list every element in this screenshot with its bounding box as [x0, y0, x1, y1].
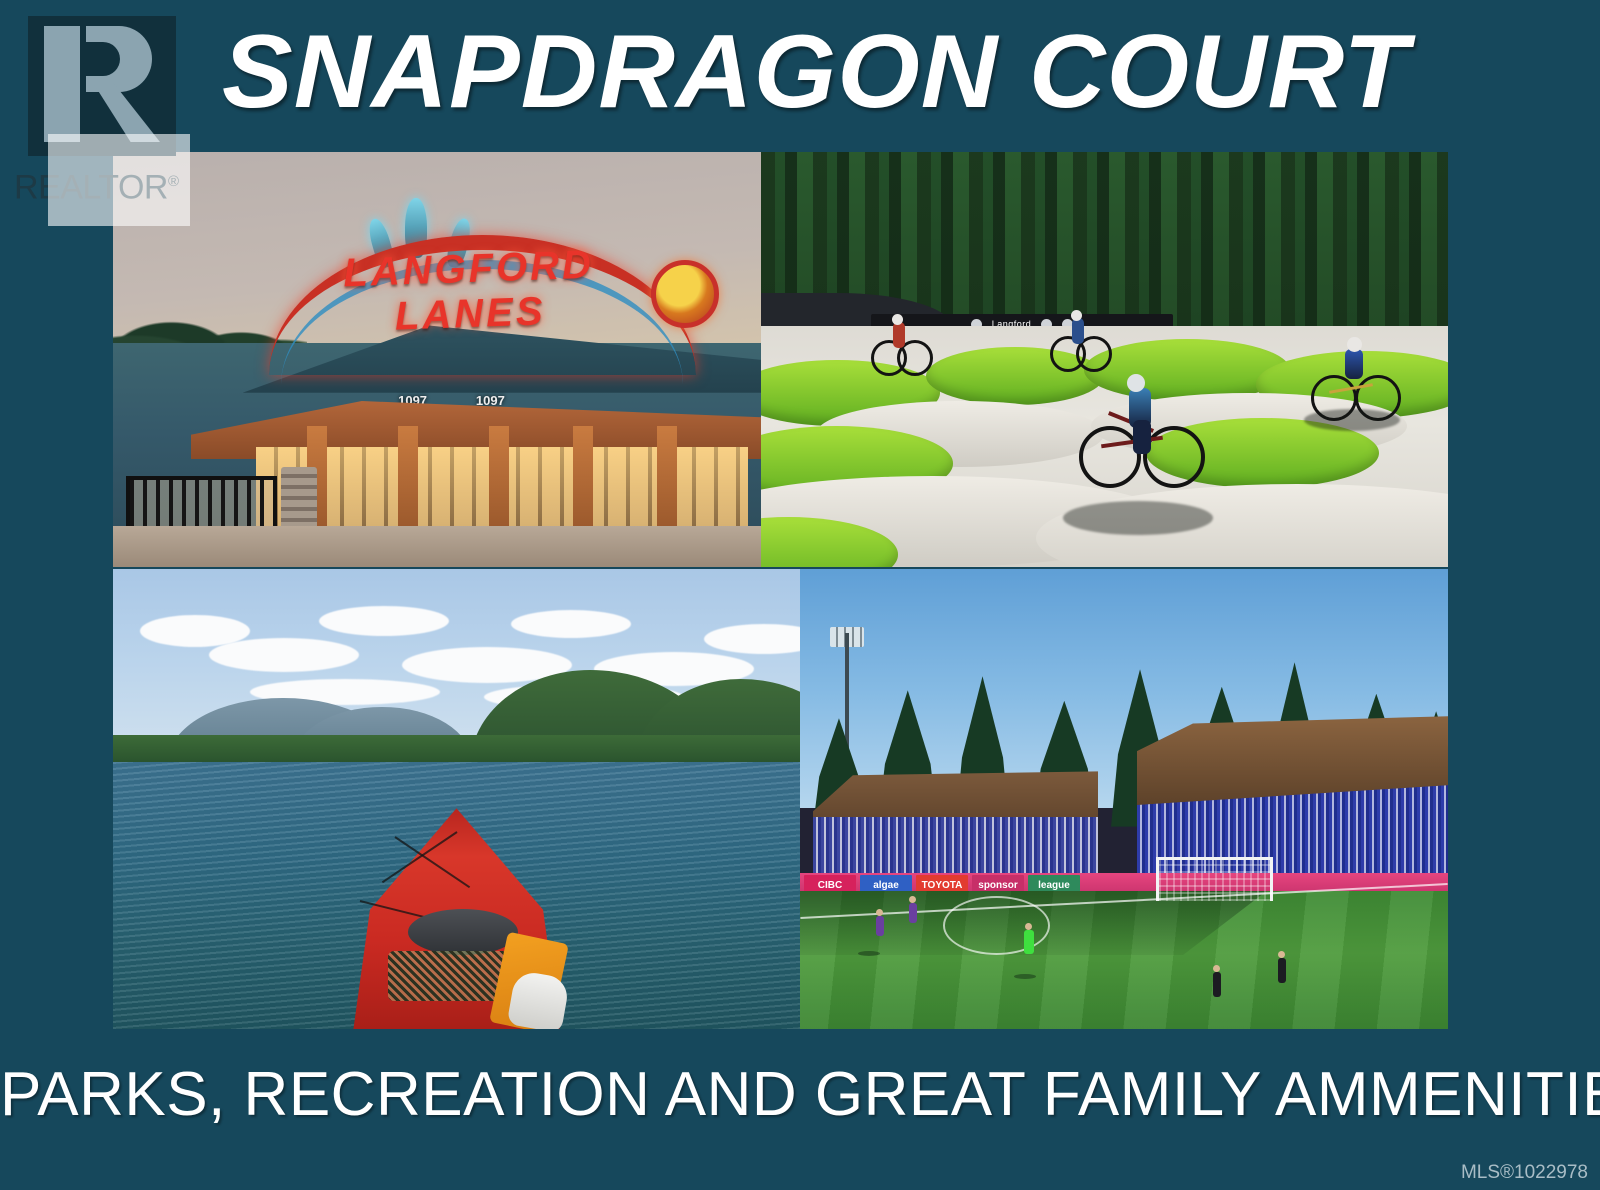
player-dark — [1208, 965, 1228, 1001]
cyclist-torso — [893, 322, 905, 348]
cyclist-legs — [1133, 420, 1151, 454]
rider-shadow — [1063, 501, 1213, 535]
cyclist-helmet — [1071, 310, 1082, 321]
player-kit — [876, 916, 884, 936]
cloud — [319, 606, 449, 636]
cyclist-background — [1050, 310, 1110, 370]
realtor-r-bowl-inner — [86, 42, 120, 76]
realtor-logo: REALTOR® — [14, 16, 190, 212]
player-shadow — [858, 951, 880, 956]
cyclist-background — [871, 314, 931, 374]
photo-langford-lanes-bowling-alley: LANGFORD LANES 1097 1097 — [113, 152, 761, 567]
cyclist-torso — [1345, 349, 1363, 379]
player-shadow — [1014, 974, 1036, 979]
player-kit — [909, 903, 917, 923]
player-head — [1213, 965, 1220, 972]
cyclist-helmet — [1127, 374, 1145, 392]
listing-flyer: SNAPDRAGON COURT REALTOR® LANGFORD LANES — [0, 0, 1600, 1190]
realtor-wordmark-text: REALTOR — [14, 168, 168, 206]
player-head — [1278, 951, 1285, 958]
bicycle-wheel — [1079, 426, 1141, 488]
photo-soccer-stadium-match: CIBC algae TOYOTA sponsor league — [800, 569, 1448, 1029]
player-kit — [1213, 972, 1221, 997]
player-head — [909, 896, 916, 903]
player-head — [876, 909, 883, 916]
mls-id: MLS®1022978 — [1461, 1162, 1588, 1184]
cyclist-foreground — [1077, 368, 1207, 498]
cyclist-helmet — [1347, 337, 1362, 352]
registered-trademark-icon: ® — [168, 173, 179, 190]
player-kit — [1024, 930, 1034, 954]
photo-kayaking-on-lake — [113, 569, 800, 1029]
realtor-wordmark: REALTOR® — [14, 158, 190, 206]
player-dark — [1273, 951, 1293, 987]
realtor-r-mark-icon — [28, 16, 176, 156]
address-number-right: 1097 — [476, 393, 505, 408]
cyclist-helmet — [892, 314, 903, 325]
page-title: SNAPDRAGON COURT — [222, 14, 1426, 132]
cyclist-torso — [1072, 318, 1084, 344]
langford-lanes-sign: LANGFORD LANES — [274, 241, 666, 345]
player-kit — [1278, 958, 1286, 983]
realtor-r-stem — [44, 26, 80, 142]
player-purple — [904, 896, 924, 930]
caption-text: PARKS, RECREATION AND GREAT FAMILY AMMEN… — [0, 1052, 1600, 1138]
player-goalkeeper-green — [1020, 923, 1040, 959]
bowling-logo-badge-icon — [651, 260, 719, 328]
photo-bike-pump-track: Langford — [761, 152, 1448, 567]
bicycle-wheel — [1143, 426, 1205, 488]
paved-walkway — [113, 526, 761, 568]
player-purple — [871, 909, 891, 943]
player-head — [1025, 923, 1032, 930]
cloud — [209, 638, 359, 672]
